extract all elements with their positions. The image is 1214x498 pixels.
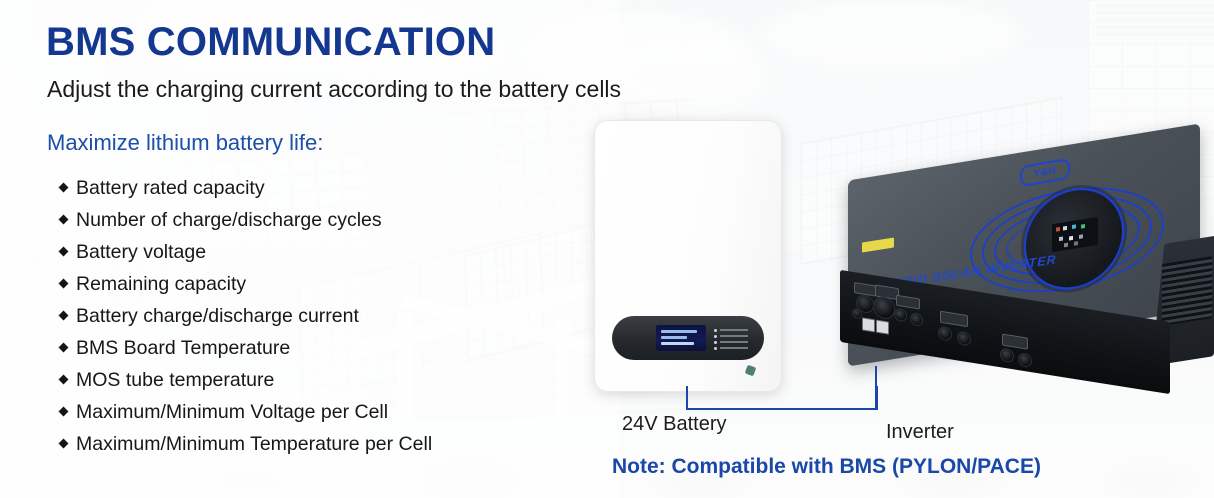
lcd-pixel (1063, 226, 1067, 231)
inverter-lcd-screen (1052, 217, 1098, 252)
led-indicator (714, 345, 754, 351)
diamond-bullet-icon (59, 311, 69, 321)
inverter-vent (1162, 256, 1212, 326)
inverter-caption: Inverter (886, 421, 954, 444)
battery-unit-image (594, 120, 782, 392)
banner-stage: BMS COMMUNICATION Adjust the charging cu… (0, 0, 1214, 498)
lcd-pixel (1056, 227, 1060, 232)
list-item-label: MOS tube temperature (76, 364, 274, 396)
list-item: Maximum/Minimum Temperature per Cell (60, 428, 580, 460)
list-item: Battery rated capacity (60, 172, 580, 204)
diamond-bullet-icon (59, 247, 69, 257)
list-item-label: BMS Board Temperature (76, 332, 290, 364)
port-connector (938, 325, 952, 341)
battery-caption: 24V Battery (622, 413, 727, 436)
port-label (940, 311, 968, 327)
connection-cable (686, 386, 878, 410)
lcd-pixel (1069, 236, 1073, 241)
battery-display-panel (612, 316, 764, 360)
lcd-text-line (661, 342, 694, 345)
page-title: BMS COMMUNICATION (46, 20, 495, 65)
list-item: Battery charge/discharge current (60, 300, 580, 332)
port-connector (957, 330, 971, 346)
cable-segment (686, 408, 878, 410)
diamond-bullet-icon (59, 439, 69, 449)
list-item: MOS tube temperature (60, 364, 580, 396)
content-layer: BMS COMMUNICATION Adjust the charging cu… (0, 0, 1214, 498)
cable-segment-to-port (875, 366, 877, 408)
page-subtitle: Adjust the charging current according to… (47, 76, 621, 103)
diamond-bullet-icon (59, 279, 69, 289)
lcd-pixel (1064, 243, 1068, 248)
list-item: Number of charge/discharge cycles (60, 204, 580, 236)
list-item: Remaining capacity (60, 268, 580, 300)
lcd-pixel (1074, 241, 1078, 246)
list-item: Maximum/Minimum Voltage per Cell (60, 396, 580, 428)
diamond-bullet-icon (59, 215, 69, 225)
cable-segment (686, 386, 688, 408)
diamond-bullet-icon (59, 375, 69, 385)
lcd-pixel (1072, 224, 1076, 229)
lcd-text-line (661, 336, 687, 339)
battery-brand-icon (745, 365, 757, 377)
list-item: Battery voltage (60, 236, 580, 268)
diamond-bullet-icon (59, 183, 69, 193)
port-connector (894, 307, 907, 322)
list-item-label: Battery rated capacity (76, 172, 265, 204)
port-connector (1000, 347, 1014, 363)
port-connector (1018, 352, 1032, 368)
battery-status-leds (714, 327, 754, 351)
list-item-label: Battery voltage (76, 236, 206, 268)
rj45-port (862, 317, 875, 332)
diamond-bullet-icon (59, 343, 69, 353)
list-item-label: Maximum/Minimum Temperature per Cell (76, 428, 432, 460)
list-item: BMS Board Temperature (60, 332, 580, 364)
list-item-label: Number of charge/discharge cycles (76, 204, 382, 236)
inverter-unit-image: Y&H (840, 148, 1214, 410)
compatibility-note: Note: Compatible with BMS (PYLON/PACE) (612, 455, 1041, 479)
diamond-bullet-icon (59, 407, 69, 417)
port-connector (910, 312, 923, 327)
lcd-pixel (1059, 236, 1063, 241)
lcd-pixel (1079, 234, 1083, 239)
features-list: Battery rated capacity Number of charge/… (60, 172, 580, 460)
lcd-pixel (1081, 224, 1085, 229)
features-heading: Maximize lithium battery life: (47, 130, 323, 156)
rj45-port (876, 320, 889, 335)
lcd-text-line (661, 330, 697, 333)
inverter-brand-label: Y&H (1034, 165, 1057, 180)
list-item-label: Remaining capacity (76, 268, 246, 300)
list-item-label: Maximum/Minimum Voltage per Cell (76, 396, 388, 428)
battery-lcd-screen (656, 325, 706, 351)
list-item-label: Battery charge/discharge current (76, 300, 359, 332)
